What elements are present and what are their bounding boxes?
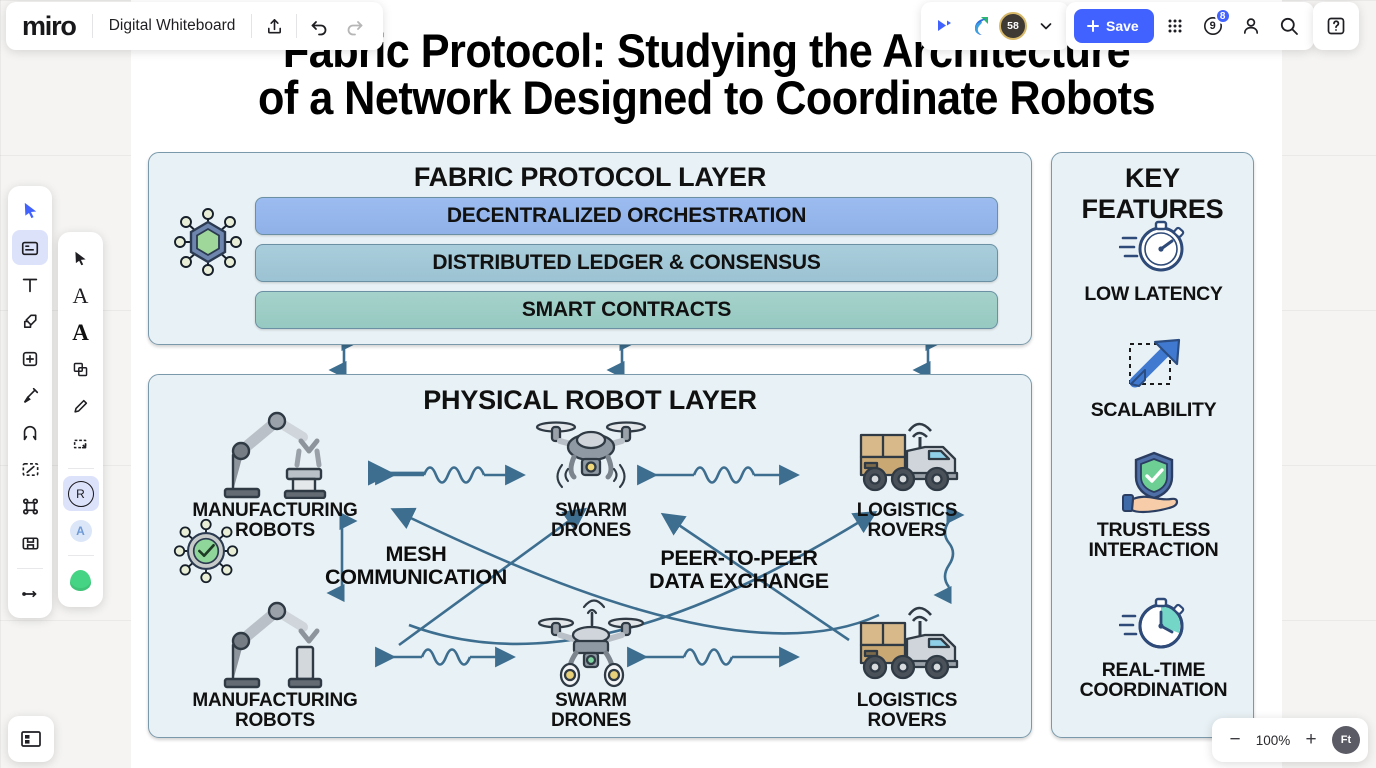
key-features-panel[interactable]: KEY FEATURES LOW LATENCY — [1051, 152, 1254, 738]
key-feature-label: LOW LATENCY — [1052, 284, 1255, 304]
notification-badge: 8 — [1215, 8, 1231, 24]
drone-icon — [501, 597, 681, 689]
key-feature-label: TRUSTLESS INTERACTION — [1052, 520, 1255, 561]
logistics-rover-icon — [817, 597, 997, 689]
miro-logo[interactable]: miro — [16, 13, 88, 40]
fabric-bar-label: DECENTRALIZED ORCHESTRATION — [447, 204, 806, 228]
connector-tool[interactable] — [12, 415, 48, 450]
upload-tool[interactable] — [12, 526, 48, 561]
key-feature-label: REAL-TIME COORDINATION — [1052, 660, 1255, 701]
hexagon-network-node-icon — [171, 205, 245, 279]
template-frame-tool[interactable] — [12, 230, 48, 265]
divider — [251, 14, 252, 38]
fabric-bar-label: DISTRIBUTED LEDGER & CONSENSUS — [432, 251, 820, 275]
text-tool[interactable] — [12, 267, 48, 302]
fabric-bar-label: SMART CONTRACTS — [522, 298, 731, 322]
key-feature-low-latency[interactable]: LOW LATENCY — [1052, 215, 1255, 304]
fabric-protocol-layer-panel[interactable]: FABRIC PROTOCOL LAYER — [148, 152, 1032, 345]
frame-tool[interactable] — [12, 452, 48, 487]
node-logistics-rovers-bottom[interactable]: LOGISTICS ROVERS — [817, 597, 997, 730]
share-upload-icon[interactable] — [256, 8, 292, 44]
sub-pen[interactable] — [63, 389, 99, 424]
green-blob-icon — [70, 570, 91, 591]
timer-value: 9 — [1210, 20, 1216, 32]
sub-bold-text[interactable]: A — [63, 315, 99, 350]
node-label: SWARM DRONES — [501, 691, 681, 730]
node-manufacturing-robots-top[interactable]: MANUFACTURING ROBOTS — [185, 407, 365, 540]
key-feature-real-time-coordination[interactable]: REAL-TIME COORDINATION — [1052, 591, 1255, 701]
sub-card[interactable] — [63, 426, 99, 461]
robot-arm-icon — [185, 407, 365, 499]
swatch-a[interactable]: A — [63, 513, 99, 548]
divider — [68, 468, 94, 469]
sticky-notes-tool[interactable] — [12, 304, 48, 339]
node-label: SWARM DRONES — [501, 501, 681, 540]
fabric-bar-distributed-ledger[interactable]: DISTRIBUTED LEDGER & CONSENSUS — [255, 244, 998, 282]
stopwatch-icon — [1052, 215, 1255, 281]
apps-grid-icon[interactable] — [1158, 9, 1192, 43]
top-toolbar-help-group — [1313, 2, 1359, 50]
sub-select-tool[interactable] — [63, 241, 99, 276]
sub-duplicate[interactable] — [63, 352, 99, 387]
robot-arm-icon — [185, 597, 365, 689]
fit-to-screen-button[interactable]: Ft — [1332, 726, 1360, 754]
drone-icon — [501, 407, 681, 499]
sub-serif-text[interactable]: A — [63, 278, 99, 313]
fabric-bar-decentralized-orchestration[interactable]: DECENTRALIZED ORCHESTRATION — [255, 197, 998, 235]
zoom-level[interactable]: 100% — [1252, 733, 1294, 748]
apps-logo-icon[interactable] — [963, 9, 997, 43]
zoom-toolbar: − 100% + Ft — [1212, 718, 1368, 762]
clock-teal-icon — [1052, 591, 1255, 657]
chevron-down-icon[interactable] — [1029, 9, 1063, 43]
zoom-in-button[interactable]: + — [1296, 725, 1326, 755]
diagram-title-line2: of a Network Designed to Coordinate Robo… — [177, 75, 1236, 122]
node-label: LOGISTICS ROVERS — [817, 691, 997, 730]
zoom-out-button[interactable]: − — [1220, 725, 1250, 755]
present-play-icon[interactable] — [927, 9, 961, 43]
swatch-green[interactable] — [63, 563, 99, 598]
diagram-artboard[interactable]: Fabric Protocol: Studying the Architectu… — [131, 0, 1282, 768]
node-label: MANUFACTURING ROBOTS — [185, 691, 365, 730]
save-button-label: Save — [1106, 18, 1139, 34]
key-feature-scalability[interactable]: SCALABILITY — [1052, 331, 1255, 420]
select-cursor-tool[interactable] — [12, 193, 48, 228]
divider — [17, 568, 43, 569]
fabric-bar-smart-contracts[interactable]: SMART CONTRACTS — [255, 291, 998, 329]
physical-robot-layer-panel[interactable]: PHYSICAL ROBOT LAYER — [148, 374, 1032, 738]
fabric-layer-heading: FABRIC PROTOCOL LAYER — [149, 162, 1031, 193]
divider — [92, 14, 93, 38]
node-manufacturing-robots-bottom[interactable]: MANUFACTURING ROBOTS — [185, 597, 365, 730]
search-icon[interactable] — [1272, 9, 1306, 43]
timer-clock-icon[interactable]: 9 8 — [1196, 9, 1230, 43]
save-button[interactable]: Save — [1074, 9, 1154, 43]
node-swarm-drones-bottom[interactable]: SWARM DRONES — [501, 597, 681, 730]
node-label: MANUFACTURING ROBOTS — [185, 501, 365, 540]
swatch-a-label: A — [70, 520, 92, 542]
node-swarm-drones-top[interactable]: SWARM DRONES — [501, 407, 681, 540]
mindmap-tool[interactable] — [12, 489, 48, 524]
node-label: LOGISTICS ROVERS — [817, 501, 997, 540]
divider — [296, 14, 297, 38]
annotation-peer-to-peer: PEER-TO-PEER DATA EXCHANGE — [599, 547, 879, 593]
logistics-rover-icon — [817, 407, 997, 499]
top-toolbar-actions-group: Save 9 8 — [1066, 2, 1314, 50]
undo-icon[interactable] — [301, 8, 337, 44]
profile-person-icon[interactable] — [1234, 9, 1268, 43]
context-toolbar: A A R A — [58, 232, 103, 607]
more-tools[interactable] — [12, 576, 48, 611]
annotation-mesh-communication: MESH COMMUNICATION — [291, 543, 541, 589]
avatar[interactable]: 58 — [999, 12, 1027, 40]
main-toolbar — [8, 186, 52, 618]
swatch-r[interactable]: R — [63, 476, 99, 511]
swatch-r-label: R — [68, 481, 94, 507]
top-toolbar-present-group: 58 — [921, 2, 1069, 50]
node-logistics-rovers-top[interactable]: LOGISTICS ROVERS — [817, 407, 997, 540]
shield-hand-icon — [1052, 451, 1255, 517]
key-feature-label: SCALABILITY — [1052, 400, 1255, 420]
frames-panel-icon[interactable] — [8, 716, 54, 762]
growth-arrow-icon — [1052, 331, 1255, 397]
help-icon[interactable] — [1319, 9, 1353, 43]
pen-tool[interactable] — [12, 378, 48, 413]
divider — [68, 555, 94, 556]
key-feature-trustless-interaction[interactable]: TRUSTLESS INTERACTION — [1052, 451, 1255, 561]
top-toolbar-left: miro Digital Whiteboard — [6, 2, 383, 50]
board-title[interactable]: Digital Whiteboard — [97, 17, 248, 35]
shapes-plus-tool[interactable] — [12, 341, 48, 376]
redo-icon[interactable] — [337, 8, 373, 44]
